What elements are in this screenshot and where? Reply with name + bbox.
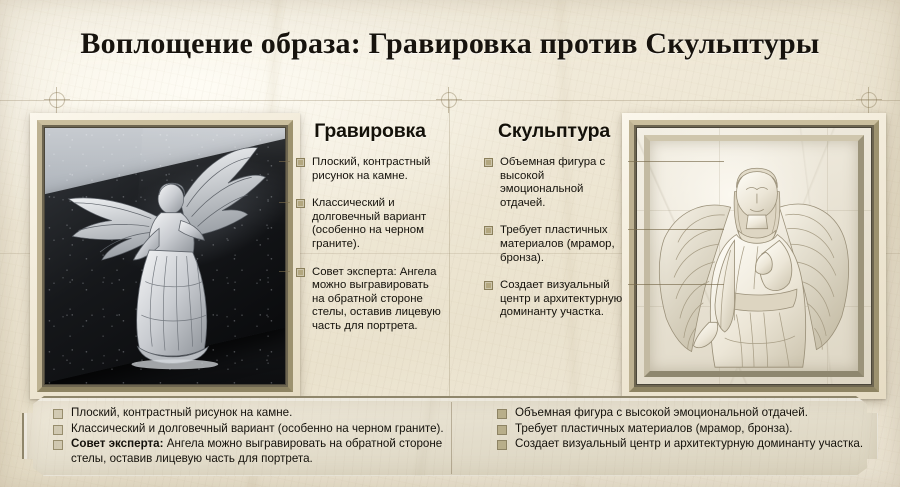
bullet-square-icon xyxy=(484,226,493,235)
bullet-square-icon xyxy=(296,158,305,167)
list-item: Требует пластичных материалов (мрамор, б… xyxy=(484,224,624,265)
list-item-text: Классический и долговечный вариант (особ… xyxy=(312,197,426,250)
guide-line-horizontal-top xyxy=(0,100,900,101)
sculpture-image xyxy=(636,127,872,385)
list-item: Создает визуальный центр и архитектурную… xyxy=(496,437,868,452)
summary-left-list: Плоский, контрастный рисунок на камне. К… xyxy=(52,406,452,466)
connector-line xyxy=(279,202,290,203)
bullet-square-icon xyxy=(53,425,63,435)
connector-line xyxy=(628,229,724,230)
guide-line-vertical-center xyxy=(449,100,450,400)
list-item-text: Плоский, контрастный рисунок на камне. xyxy=(312,156,430,182)
slide-canvas: Воплощение образа: Гравировка против Ску… xyxy=(0,0,900,487)
connector-line xyxy=(628,161,724,162)
engraved-angel-artwork xyxy=(45,128,285,384)
page-title: Воплощение образа: Гравировка против Ску… xyxy=(0,27,900,61)
registration-cross-icon-right xyxy=(856,87,882,113)
bullet-square-icon xyxy=(53,409,63,419)
bullet-square-icon xyxy=(484,158,493,167)
list-item: Плоский, контрастный рисунок на камне. xyxy=(296,156,444,183)
engraving-image-frame xyxy=(30,113,300,399)
registration-cross-icon-center xyxy=(436,87,462,113)
bullet-square-icon xyxy=(296,268,305,277)
list-item: Объемная фигура с высокой эмоциональной … xyxy=(496,406,868,421)
list-item-text: Требует пластичных материалов (мрамор, б… xyxy=(500,224,615,263)
bullet-square-icon xyxy=(497,425,507,435)
registration-cross-icon-left xyxy=(44,87,70,113)
list-item: Совет эксперта: Ангела можно выгравирова… xyxy=(52,437,452,466)
list-item-text: Классический и долговечный вариант (особ… xyxy=(71,422,444,435)
summary-plaque: Плоский, контрастный рисунок на камне. К… xyxy=(22,396,882,480)
bullet-square-icon xyxy=(497,409,507,419)
engraving-frame-bevel xyxy=(37,120,293,392)
list-item-text: Создает визуальный центр и архитектурную… xyxy=(515,437,863,450)
column-sculpture: Скульптура Объемная фигура с высокой эмо… xyxy=(484,120,624,334)
list-item: Плоский, контрастный рисунок на камне. xyxy=(52,406,452,421)
summary-right: Объемная фигура с высокой эмоциональной … xyxy=(496,406,868,453)
sculpture-image-frame xyxy=(622,113,886,399)
list-item: Классический и долговечный вариант (особ… xyxy=(296,197,444,251)
bullet-square-icon xyxy=(484,281,493,290)
list-item: Требует пластичных материалов (мрамор, б… xyxy=(496,422,868,437)
column-sculpture-heading: Скульптура xyxy=(484,120,624,143)
list-item-text: Объемная фигура с высокой эмоциональной … xyxy=(500,156,605,209)
relief-inner-border xyxy=(644,135,864,377)
column-sculpture-bullets: Объемная фигура с высокой эмоциональной … xyxy=(484,156,624,320)
bullet-square-icon xyxy=(296,199,305,208)
list-item-text: Создает визуальный центр и архитектурную… xyxy=(500,279,622,318)
summary-right-list: Объемная фигура с высокой эмоциональной … xyxy=(496,406,868,452)
column-engraving: Гравировка Плоский, контрастный рисунок … xyxy=(296,120,444,348)
list-item: Создает визуальный центр и архитектурную… xyxy=(484,279,624,320)
list-item: Объемная фигура с высокой эмоциональной … xyxy=(484,156,624,210)
connector-line xyxy=(279,271,290,272)
list-item: Классический и долговечный вариант (особ… xyxy=(52,422,452,437)
list-item-emphasis: Совет эксперта: xyxy=(71,437,164,450)
engraving-image xyxy=(44,127,286,385)
bullet-square-icon xyxy=(497,440,507,450)
connector-line xyxy=(628,284,724,285)
column-engraving-bullets: Плоский, контрастный рисунок на камне. К… xyxy=(296,156,444,334)
list-item-text: Плоский, контрастный рисунок на камне. xyxy=(71,406,292,419)
connector-line xyxy=(279,161,290,162)
list-item: Совет эксперта: Ангела можно выгравирова… xyxy=(296,266,444,334)
bullet-square-icon xyxy=(53,440,63,450)
list-item-text: Объемная фигура с высокой эмоциональной … xyxy=(515,406,808,419)
list-item-text: Требует пластичных материалов (мрамор, б… xyxy=(515,422,792,435)
list-item-text: Совет эксперта: Ангела можно выгравирова… xyxy=(312,266,441,332)
column-engraving-heading: Гравировка xyxy=(296,120,444,143)
summary-left: Плоский, контрастный рисунок на камне. К… xyxy=(52,406,452,467)
